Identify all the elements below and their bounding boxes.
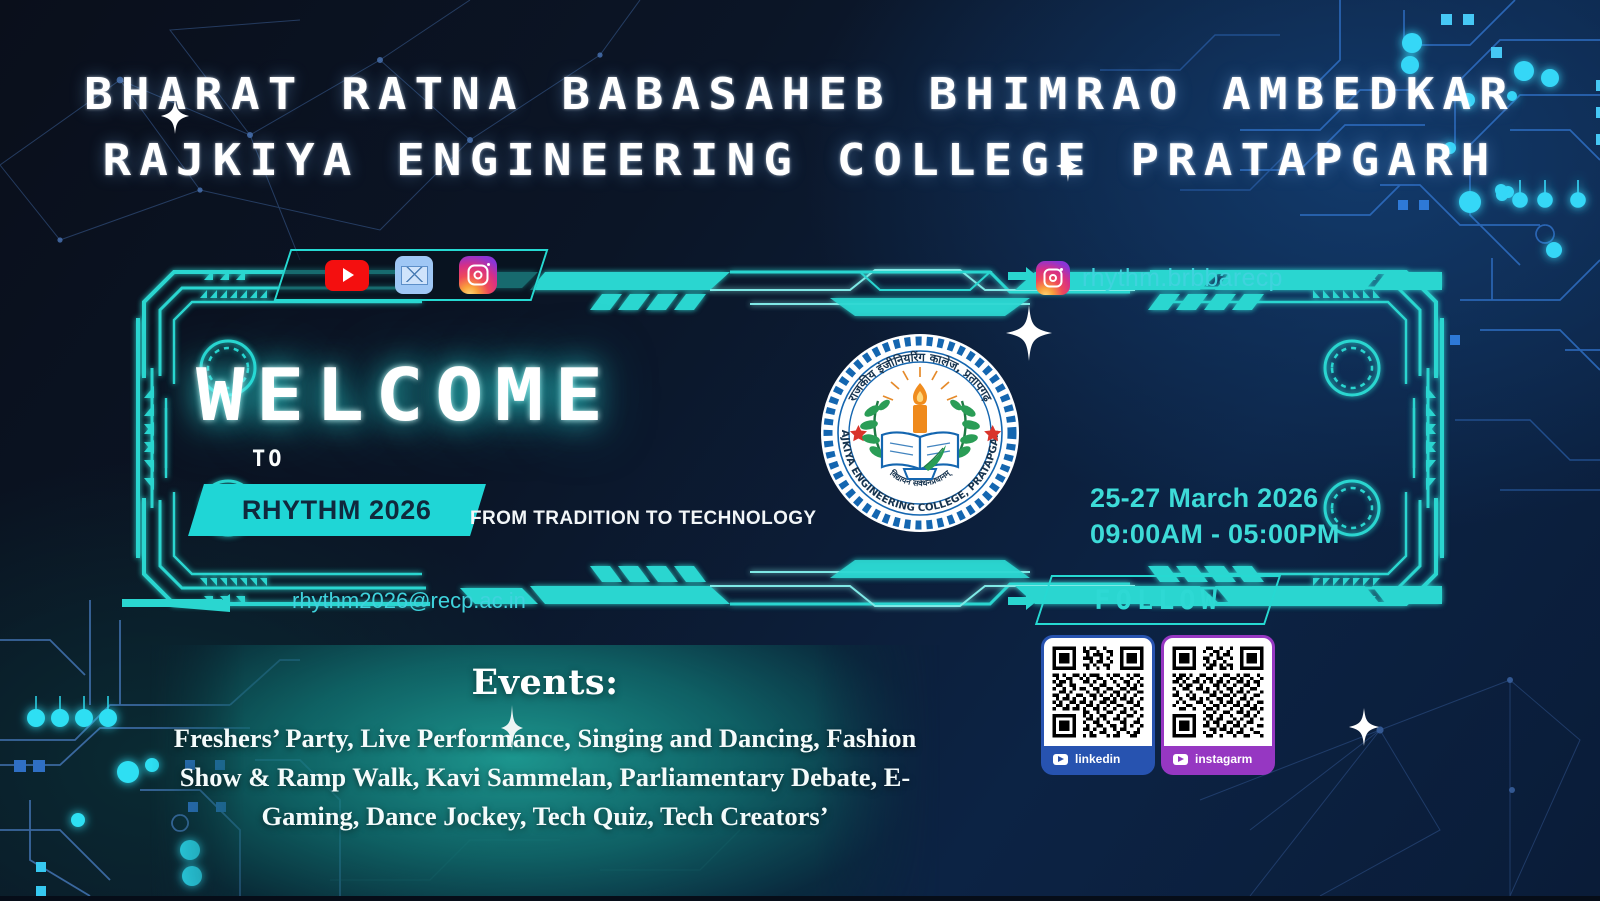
instagram-handle-text: rhythm.brbbarecp — [1082, 264, 1283, 293]
qr-card-instagram[interactable]: instagarm — [1164, 638, 1272, 772]
play-icon — [1173, 754, 1188, 765]
welcome-heading: WELCOME — [196, 355, 614, 435]
instagram-icon — [1036, 261, 1070, 295]
frame-arrow-follow — [1008, 588, 1038, 619]
frame-arrow-left — [118, 590, 258, 621]
youtube-icon[interactable] — [325, 260, 369, 291]
events-heading: Events: — [150, 662, 940, 703]
qr-linkedin-image-wrap — [1044, 638, 1152, 746]
event-name-badge: RHYTHM 2026 — [188, 484, 486, 536]
page-title: BHARAT RATNA BABASAHEB BHIMRAO AMBEDKAR … — [0, 62, 1600, 194]
social-icon-bar — [282, 249, 540, 301]
schedule-dates: 25-27 March 2026 — [1090, 480, 1340, 516]
qr-linkedin-image — [1049, 643, 1147, 741]
qr-instagram-label: instagarm — [1195, 752, 1252, 766]
qr-code-row: linkedin — [1044, 638, 1272, 772]
contact-email[interactable]: rhythm2026@recp.ac.in — [292, 588, 526, 614]
tagline: FROM TRADITION TO TECHNOLOGY — [470, 508, 817, 530]
instagram-icon[interactable] — [459, 256, 497, 294]
events-section: Events: Freshers’ Party, Live Performanc… — [150, 645, 940, 836]
email-icon[interactable] — [395, 256, 433, 294]
play-icon — [1053, 754, 1068, 765]
follow-label: FOLLOW — [1043, 575, 1273, 625]
sparkle-icon — [1348, 708, 1380, 746]
qr-linkedin-footer: linkedin — [1044, 746, 1152, 772]
title-line-2: RAJKIYA ENGINEERING COLLEGE PRATAPGARH — [0, 128, 1600, 194]
qr-linkedin-label: linkedin — [1075, 752, 1120, 766]
event-name-text: RHYTHM 2026 — [242, 495, 432, 526]
qr-instagram-image — [1169, 643, 1267, 741]
qr-instagram-image-wrap — [1164, 638, 1272, 746]
welcome-to-label: TO — [252, 447, 569, 472]
title-line-1: BHARAT RATNA BABASAHEB BHIMRAO AMBEDKAR — [0, 62, 1600, 128]
schedule-time: 09:00AM - 05:00PM — [1090, 516, 1340, 552]
follow-banner: FOLLOW — [1043, 575, 1273, 625]
events-list: Freshers’ Party, Live Performance, Singi… — [150, 719, 940, 836]
qr-card-linkedin[interactable]: linkedin — [1044, 638, 1152, 772]
schedule-block: 25-27 March 2026 09:00AM - 05:00PM — [1090, 480, 1340, 552]
frame-arrow-ig — [1008, 263, 1038, 294]
instagram-handle[interactable]: rhythm.brbbarecp — [1036, 258, 1283, 298]
college-seal-logo: राजकीय इंजीनियरिंग कालेज, प्रतापगढ़ RAJK… — [820, 333, 1020, 533]
qr-instagram-footer: instagarm — [1164, 746, 1272, 772]
